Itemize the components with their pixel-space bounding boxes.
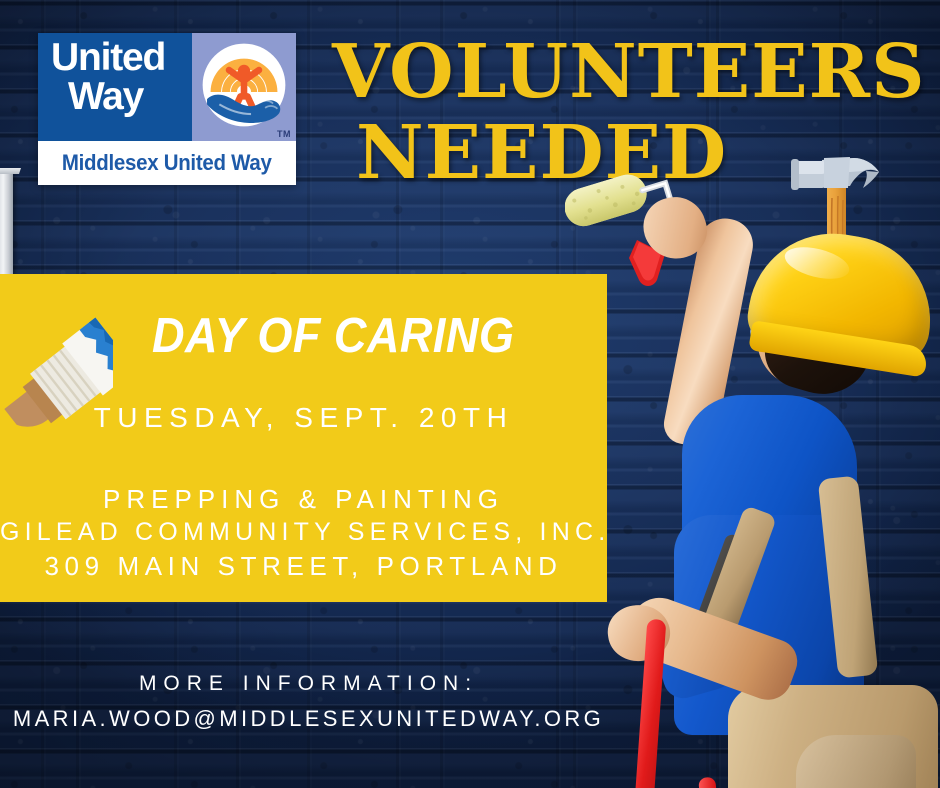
step-ladder: [600, 619, 770, 788]
logo-word-united: United: [51, 36, 165, 79]
logo-top-band: United Way TM: [38, 33, 296, 141]
united-way-logo: United Way TM: [38, 33, 296, 185]
ladder-rail-front: [621, 619, 667, 788]
contact-block: MORE INFORMATION: MARIA.WOOD@MIDDLESEXUN…: [0, 672, 617, 732]
logo-wordmark-panel: United Way: [38, 33, 192, 141]
logo-wordmark: United Way: [51, 39, 165, 116]
headline-line-volunteers: VOLUNTEERS: [332, 36, 902, 109]
contact-label: MORE INFORMATION:: [0, 672, 617, 696]
logo-mark-panel: TM: [192, 33, 296, 141]
contact-email: MARIA.WOOD@MIDDLESEXUNITEDWAY.ORG: [0, 706, 617, 732]
logo-subtitle-band: Middlesex United Way: [38, 141, 296, 185]
event-date: TUESDAY, SEPT. 20TH: [0, 402, 607, 434]
logo-subtitle: Middlesex United Way: [62, 150, 272, 176]
panel-title: DAY OF CARING: [152, 308, 514, 364]
logo-word-way: Way: [68, 78, 165, 117]
event-info-panel: DAY OF CARING TUESDAY, SEPT. 20TH PREPPI…: [0, 274, 607, 602]
ladder-rail-back: [698, 777, 735, 788]
event-activity: PREPPING & PAINTING: [0, 482, 607, 516]
event-details: PREPPING & PAINTING GILEAD COMMUNITY SER…: [0, 482, 607, 584]
volunteer-flyer-poster: United Way TM: [0, 0, 940, 788]
yellow-hard-hat: [744, 222, 940, 369]
event-address: 309 MAIN STREET, PORTLAND: [0, 549, 607, 583]
overalls-fold-shading: [796, 735, 916, 788]
united-way-hand-rainbow-icon: [200, 41, 288, 129]
logo-trademark: TM: [277, 129, 291, 139]
event-organization: GILEAD COMMUNITY SERVICES, INC.: [0, 516, 607, 549]
painter-photo: [600, 215, 940, 788]
window-frame-strip: [0, 172, 13, 276]
